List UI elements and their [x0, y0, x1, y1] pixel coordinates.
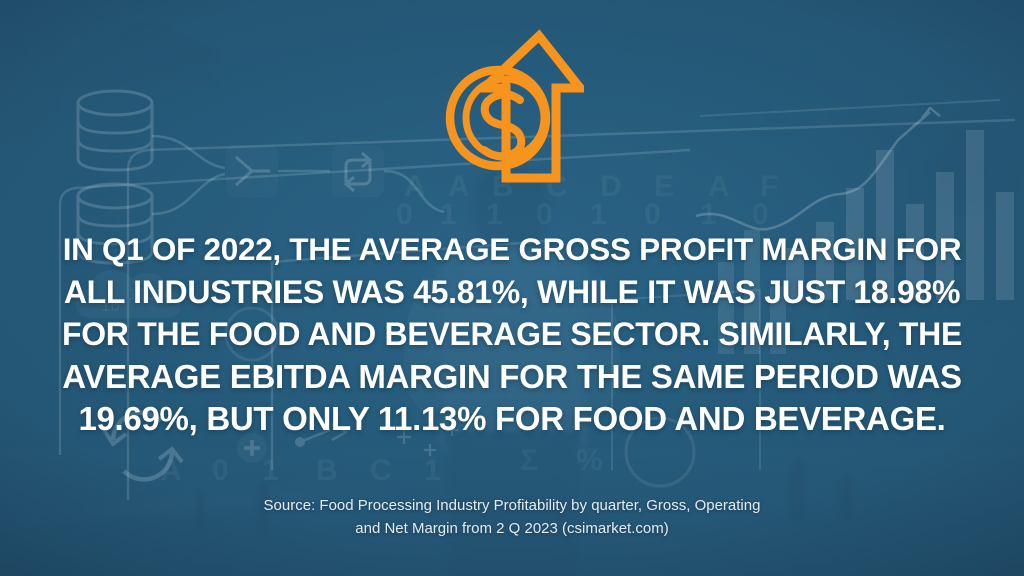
database-cylinder-icon — [78, 91, 152, 170]
svg-text:B: B — [316, 454, 338, 487]
svg-text:0: 0 — [396, 198, 413, 231]
svg-text:1: 1 — [440, 198, 457, 231]
svg-text:0: 0 — [644, 198, 661, 231]
svg-text:1: 1 — [262, 454, 279, 487]
svg-text:0: 0 — [752, 198, 769, 231]
headline-line: IN Q1 OF 2022, THE AVERAGE GROSS PROFIT … — [40, 228, 984, 271]
merge-node-icon — [226, 145, 278, 197]
svg-text:%: % — [576, 444, 603, 477]
dollar-coin-growth-arrow-icon — [444, 28, 584, 188]
headline-line: FOR THE FOOD AND BEVERAGE SECTOR. SIMILA… — [40, 313, 984, 356]
svg-text:C: C — [370, 454, 392, 487]
headline-line: ALL INDUSTRIES WAS 45.81%, WHILE IT WAS … — [40, 271, 984, 314]
svg-text:0: 0 — [536, 198, 553, 231]
infographic-canvas: 10 11010 — [0, 0, 1024, 576]
svg-text:1: 1 — [424, 454, 441, 487]
source-line: Source: Food Processing Industry Profita… — [0, 494, 1024, 517]
svg-text:0: 0 — [212, 454, 229, 487]
transform-node-icon — [332, 145, 384, 197]
svg-text:1: 1 — [590, 198, 607, 231]
svg-text:Σ: Σ — [520, 444, 538, 477]
headline-line: AVERAGE EBITDA MARGIN FOR THE SAME PERIO… — [40, 356, 984, 399]
svg-text:A: A — [160, 454, 182, 487]
source-line: and Net Margin from 2 Q 2023 (csimarket.… — [0, 517, 1024, 540]
headline-line: 19.69%, BUT ONLY 11.13% FOR FOOD AND BEV… — [40, 398, 984, 441]
source-attribution: Source: Food Processing Industry Profita… — [0, 494, 1024, 540]
svg-text:1: 1 — [486, 198, 503, 231]
page-title: IN Q1 OF 2022, THE AVERAGE GROSS PROFIT … — [40, 228, 984, 441]
